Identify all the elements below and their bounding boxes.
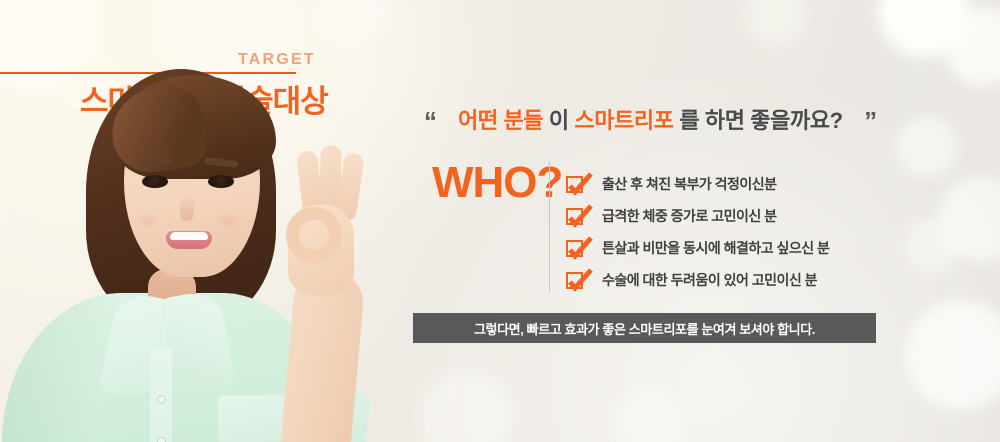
model-nose xyxy=(180,195,194,221)
checklist-item: 튼살과 비만을 동시에 해결하고 싶으신 분 xyxy=(566,232,829,264)
checklist-item: 수술에 대한 두려움이 있어 고민이신 분 xyxy=(566,264,829,296)
model-shirt-button xyxy=(157,395,166,404)
checkbox-checked-icon xyxy=(566,208,583,225)
quote-close-mark: ” xyxy=(864,106,877,136)
target-checklist: 출산 후 쳐진 복부가 걱정이신분 급격한 체중 증가로 고민이신 분 튼살과 … xyxy=(566,168,829,296)
quote-plain-1: 이 xyxy=(549,108,575,133)
checklist-item: 급격한 체중 증가로 고민이신 분 xyxy=(566,200,829,232)
model-cheek-right xyxy=(216,213,242,229)
model-photo xyxy=(0,55,430,442)
checkbox-checked-icon xyxy=(566,176,583,193)
checklist-item-label: 튼살과 비만을 동시에 해결하고 싶으신 분 xyxy=(602,238,829,258)
checklist-item: 출산 후 쳐진 복부가 걱정이신분 xyxy=(566,168,829,200)
who-heading: WHO? xyxy=(432,158,562,208)
checkbox-checked-icon xyxy=(566,272,583,289)
model-eye-left xyxy=(142,175,168,188)
quote-open-mark: “ xyxy=(424,106,437,136)
checklist-item-label: 급격한 체중 증가로 고민이신 분 xyxy=(602,206,777,226)
quote-highlight-1: 어떤 분들 xyxy=(458,108,543,133)
quote-plain-2: 를 하면 좋을까요? xyxy=(679,108,842,133)
checklist-item-label: 출산 후 쳐진 복부가 걱정이신분 xyxy=(602,174,777,194)
cta-bar: 그렇다면, 빠르고 효과가 좋은 스마트리포를 눈여겨 보셔야 합니다. xyxy=(413,313,876,343)
model-ok-gesture-ring xyxy=(286,207,342,263)
checkbox-checked-icon xyxy=(566,240,583,257)
quote-highlight-2: 스마트리포 xyxy=(574,108,673,133)
bokeh-circle xyxy=(904,218,960,274)
bokeh-circle xyxy=(896,116,958,178)
checklist-item-label: 수술에 대한 두려움이 있어 고민이신 분 xyxy=(602,270,817,290)
promo-banner: TARGET 스마트리포시술대상 “ xyxy=(0,0,1000,442)
model-teeth xyxy=(170,232,208,240)
vertical-divider xyxy=(549,161,550,292)
model-cheek-left xyxy=(134,213,160,229)
model-shirt-button xyxy=(157,437,166,442)
headline-quote: “ 어떤 분들 이 스마트리포 를 하면 좋을까요? ” xyxy=(424,103,877,137)
model-eye-right xyxy=(208,175,234,188)
cta-text: 그렇다면, 빠르고 효과가 좋은 스마트리포를 눈여겨 보셔야 합니다. xyxy=(474,319,815,338)
